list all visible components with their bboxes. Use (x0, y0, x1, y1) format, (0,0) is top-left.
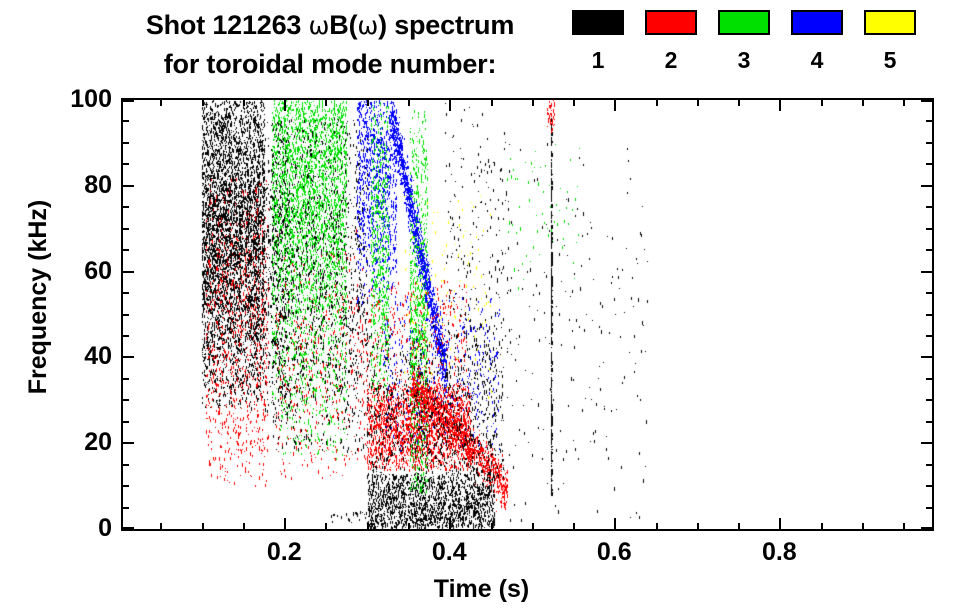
y-tick-label-0: 0 (98, 516, 112, 541)
y-tick-right-50 (926, 314, 932, 316)
x-tick-top-0.1 (202, 523, 204, 529)
x-tick-top-0.85 (821, 523, 823, 529)
legend-label-5: 5 (884, 49, 897, 72)
x-tick-top-0.3 (367, 523, 369, 529)
x-tick-0.15 (243, 100, 245, 106)
y-tick-right-40 (921, 356, 932, 358)
legend-entry-2: 2 (645, 10, 697, 72)
y-tick-15 (123, 464, 129, 466)
y-tick-45 (123, 335, 129, 337)
x-tick-0.45 (491, 100, 493, 106)
x-tick-top-0.65 (656, 523, 658, 529)
x-tick-0.4 (449, 100, 451, 111)
y-tick-right-95 (926, 120, 932, 122)
y-tick-right-65 (926, 249, 932, 251)
legend-swatch-4 (791, 10, 843, 35)
y-tick-75 (123, 206, 129, 208)
y-tick-right-25 (926, 421, 932, 423)
omega-symbol-2: ω (357, 11, 378, 40)
legend-swatch-1 (572, 10, 624, 35)
y-tick-label-40: 40 (84, 344, 112, 369)
y-tick-10 (123, 485, 129, 487)
x-tick-0.3 (367, 100, 369, 106)
x-tick-top-0.9 (862, 523, 864, 529)
y-tick-right-35 (926, 378, 932, 380)
x-tick-0.25 (325, 100, 327, 106)
y-tick-35 (123, 378, 129, 380)
title-spectrum-text: ) spectrum (378, 10, 514, 40)
title-line-1: Shot 121263 ωB(ω) spectrum (95, 6, 565, 45)
x-tick-label-0.4: 0.4 (409, 540, 489, 565)
x-tick-0.9 (862, 100, 864, 106)
x-tick-top-0.15 (243, 523, 245, 529)
y-tick-label-100: 100 (70, 87, 112, 112)
y-tick-85 (123, 163, 129, 165)
y-tick-20 (123, 442, 134, 444)
y-tick-label-80: 80 (84, 173, 112, 198)
x-tick-top-0.4 (449, 518, 451, 529)
y-tick-50 (123, 314, 129, 316)
x-tick-0.05 (160, 100, 162, 106)
x-tick-0.6 (614, 100, 616, 111)
y-tick-70 (123, 228, 129, 230)
y-tick-right-80 (921, 185, 932, 187)
x-tick-0.1 (202, 100, 204, 106)
y-tick-25 (123, 421, 129, 423)
y-tick-40 (123, 356, 134, 358)
legend-label-1: 1 (592, 49, 605, 72)
y-tick-right-5 (926, 507, 932, 509)
x-tick-label-0.8: 0.8 (739, 540, 819, 565)
x-tick-top-0.95 (903, 523, 905, 529)
legend-swatch-3 (718, 10, 770, 35)
legend-entry-5: 5 (864, 10, 916, 72)
y-tick-95 (123, 120, 129, 122)
y-tick-right-75 (926, 206, 932, 208)
x-tick-0.95 (903, 100, 905, 106)
x-tick-top-0.75 (738, 523, 740, 529)
x-tick-0.7 (697, 100, 699, 106)
y-tick-0 (123, 527, 134, 529)
legend-swatch-5 (864, 10, 916, 35)
y-axis-title-wrapper: Frequency (kHz) (0, 0, 40, 615)
x-tick-top-0.25 (325, 523, 327, 529)
y-tick-label-60: 60 (84, 259, 112, 284)
spectrogram-plot (123, 100, 932, 529)
y-tick-right-15 (926, 464, 932, 466)
x-tick-top-0.35 (408, 523, 410, 529)
y-tick-right-45 (926, 335, 932, 337)
y-tick-5 (123, 507, 129, 509)
legend-entry-3: 3 (718, 10, 770, 72)
y-tick-30 (123, 399, 129, 401)
x-tick-0.85 (821, 100, 823, 106)
y-tick-right-20 (921, 442, 932, 444)
x-tick-top-0.7 (697, 523, 699, 529)
x-tick-0.2 (284, 100, 286, 111)
y-tick-65 (123, 249, 129, 251)
x-tick-0.8 (779, 100, 781, 111)
y-tick-right-30 (926, 399, 932, 401)
legend-swatch-2 (645, 10, 697, 35)
y-tick-right-10 (926, 485, 932, 487)
y-tick-right-90 (926, 142, 932, 144)
x-tick-0.65 (656, 100, 658, 106)
x-tick-top-0.05 (160, 523, 162, 529)
plot-area (121, 98, 934, 531)
y-axis-title: Frequency (kHz) (24, 107, 52, 487)
legend-label-4: 4 (811, 49, 824, 72)
legend: 12345 (572, 10, 916, 72)
y-tick-right-100 (921, 100, 932, 102)
x-axis-tick-labels: 0.20.40.60.8 (0, 540, 963, 574)
y-tick-100 (123, 100, 134, 102)
y-tick-right-60 (921, 271, 932, 273)
legend-entry-4: 4 (791, 10, 843, 72)
x-tick-0.5 (532, 100, 534, 106)
y-tick-right-85 (926, 163, 932, 165)
y-tick-90 (123, 142, 129, 144)
y-tick-right-55 (926, 292, 932, 294)
spectrogram-figure: Shot 121263 ωB(ω) spectrum for toroidal … (0, 0, 963, 615)
y-tick-right-70 (926, 228, 932, 230)
y-tick-60 (123, 271, 134, 273)
x-tick-top-0.6 (614, 518, 616, 529)
y-tick-55 (123, 292, 129, 294)
x-tick-top-0.5 (532, 523, 534, 529)
title-b-text: B( (329, 10, 357, 40)
x-tick-top-0.2 (284, 518, 286, 529)
legend-entry-1: 1 (572, 10, 624, 72)
legend-label-3: 3 (738, 49, 751, 72)
title-line-2: for toroidal mode number: (95, 45, 565, 83)
omega-symbol-1: ω (309, 11, 330, 40)
x-tick-0.55 (573, 100, 575, 106)
x-tick-0.75 (738, 100, 740, 106)
legend-label-2: 2 (665, 49, 678, 72)
title-shot-text: Shot 121263 (146, 10, 309, 40)
x-tick-label-0.2: 0.2 (244, 540, 324, 565)
x-axis-title: Time (s) (0, 575, 963, 603)
y-tick-80 (123, 185, 134, 187)
x-tick-0.35 (408, 100, 410, 106)
x-tick-top-0.45 (491, 523, 493, 529)
x-tick-top-0.8 (779, 518, 781, 529)
y-tick-right-0 (921, 527, 932, 529)
figure-title: Shot 121263 ωB(ω) spectrum for toroidal … (95, 6, 565, 83)
x-tick-label-0.6: 0.6 (574, 540, 654, 565)
y-tick-label-20: 20 (84, 430, 112, 455)
x-tick-top-0.55 (573, 523, 575, 529)
